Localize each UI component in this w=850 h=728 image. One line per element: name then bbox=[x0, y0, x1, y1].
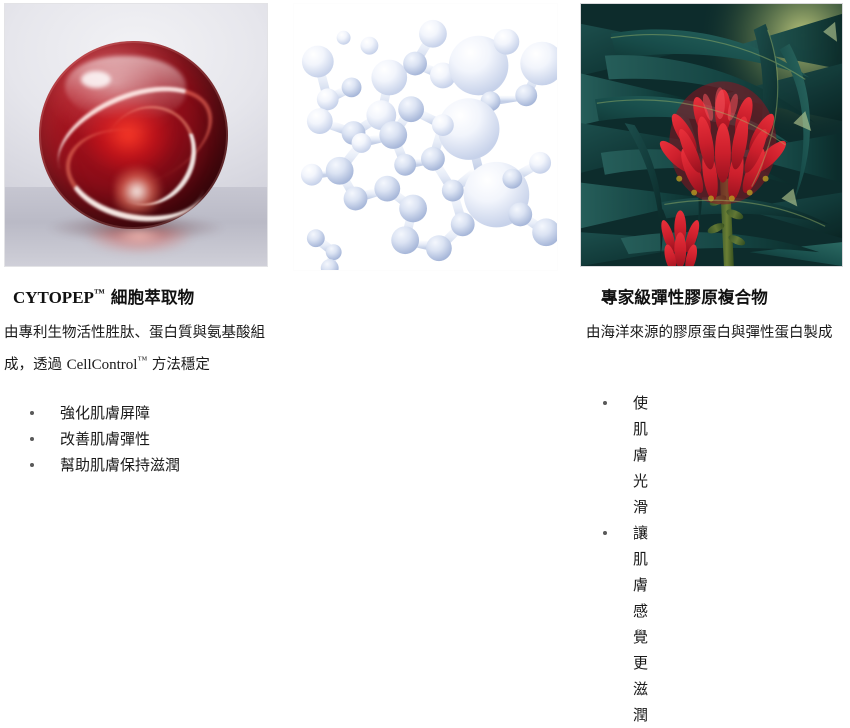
cape-aloe-plant-image bbox=[580, 3, 843, 267]
heading-text: 細胞萃取物 bbox=[105, 288, 194, 307]
molecule-backdrop bbox=[294, 4, 557, 270]
sphere-rim bbox=[39, 41, 228, 230]
ingredient-column-cape-aloe: 好望角薏薉 富含水分與營養素 舒緩肌膚 讓肌膚感覺更滋潤 bbox=[577, 0, 850, 507]
list-item: 改善肌膚彈性 bbox=[30, 426, 180, 452]
red-glass-sphere-image bbox=[4, 3, 268, 267]
sphere-backdrop bbox=[5, 4, 267, 266]
aloe-illustration bbox=[581, 4, 842, 266]
aloe-backdrop bbox=[581, 4, 842, 266]
ingredient-heading-cytopep: CYTOPEP™ 細胞萃取物 bbox=[13, 284, 194, 308]
trademark-icon: ™ bbox=[94, 288, 105, 300]
ingredient-description-cytopep: 由專利生物活性胜肽、蛋白質與氨基酸組成，透過 CellControl™ 方法穩定 bbox=[4, 320, 286, 379]
list-item: 讓肌膚感覺更滋潤 bbox=[603, 520, 648, 728]
list-item: 強化肌膚屏障 bbox=[30, 400, 180, 426]
ingredient-column-cytopep: CYTOPEP™ 細胞萃取物 由專利生物活性胜肽、蛋白質與氨基酸組成，透過 Ce… bbox=[0, 0, 283, 507]
description-text-tail: 方法穩定 bbox=[147, 357, 210, 373]
trademark-icon: ™ bbox=[137, 355, 147, 366]
molecule-lattice-image bbox=[293, 3, 558, 271]
sphere-reflection bbox=[84, 229, 194, 260]
red-sphere bbox=[39, 41, 228, 230]
benefit-list-cytopep: 強化肌膚屏障 改善肌膚彈性 幫助肌膚保持滋潤 bbox=[30, 400, 180, 478]
brand-name-cytopep: CYTOPEP bbox=[13, 288, 94, 307]
list-item: 幫助肌膚保持滋潤 bbox=[30, 452, 180, 478]
molecule-illustration bbox=[294, 4, 557, 270]
ingredient-panel: CYTOPEP™ 細胞萃取物 由專利生物活性胜肽、蛋白質與氨基酸組成，透過 Ce… bbox=[0, 0, 850, 507]
ingredient-column-elastin-collagen: 專家級彈性膠原複合物 由海洋來源的膠原蛋白與彈性蛋白製成 使肌膚光滑 讓肌膚感覺… bbox=[290, 0, 573, 507]
brand-name-cellcontrol: CellControl bbox=[67, 357, 138, 373]
